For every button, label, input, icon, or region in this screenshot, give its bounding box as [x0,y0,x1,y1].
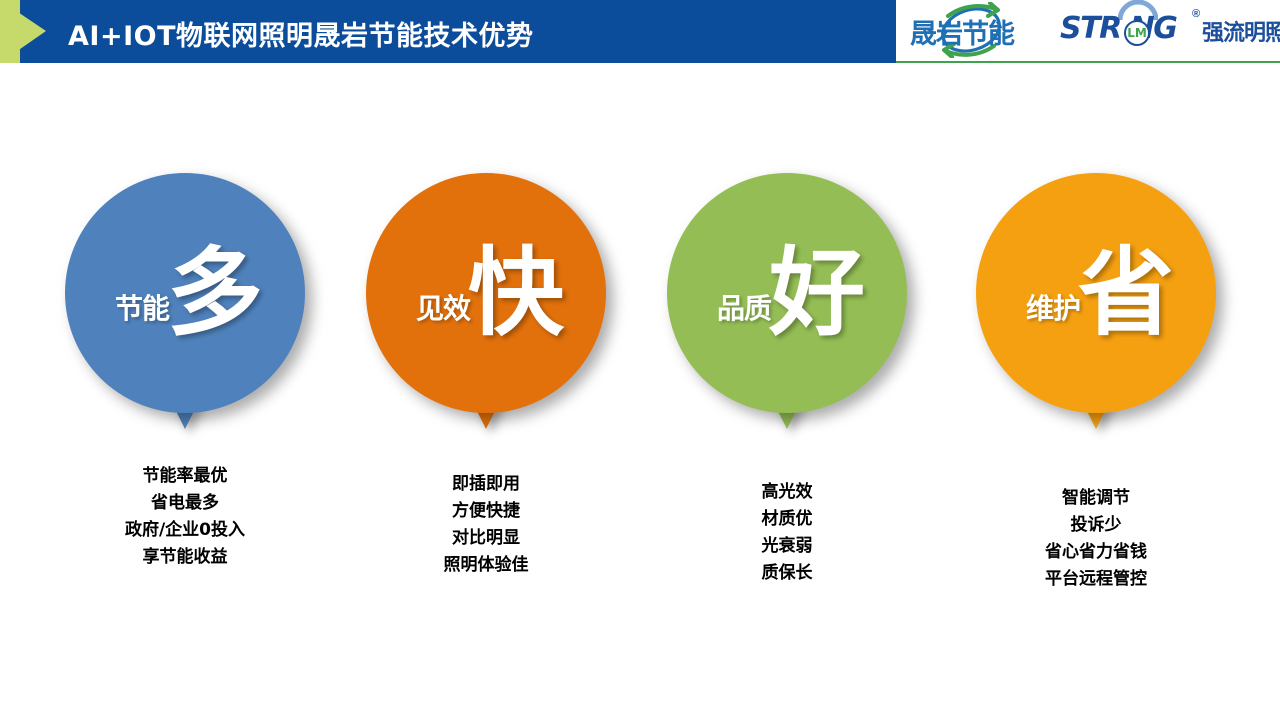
bubble-small-label-4: 维护 [1026,287,1080,327]
bubble-label-4: 维护 省 [976,173,1216,413]
feature-column-4: 维护 省 智能调节 投诉少 省心省力省钱 平台远程管控 [946,63,1246,720]
bubble-wrap-2: 见效 快 [366,173,606,431]
list-item: 省心省力省钱 [946,539,1246,566]
logo-panel: 晟岩节能 STR NG LM ® 强流明照明 [896,0,1280,63]
bullet-list-3: 高光效 材质优 光衰弱 质保长 [637,479,937,587]
bubble-big-label-2: 快 [468,250,564,336]
list-item: 省电最多 [35,490,335,517]
logo-inner: 晟岩节能 STR NG LM ® 强流明照明 [896,0,1280,61]
list-item: 方便快捷 [336,498,636,525]
list-item: 材质优 [637,506,937,533]
logo-brand-cn: 晟岩节能 [910,12,1014,51]
list-item: 光衰弱 [637,533,937,560]
list-item: 质保长 [637,560,937,587]
bubble-label-3: 品质 好 [667,173,907,413]
list-item: 照明体验佳 [336,552,636,579]
list-item: 对比明显 [336,525,636,552]
registered-mark-icon: ® [1192,8,1200,20]
bubble-big-label-1: 多 [167,250,263,336]
feature-column-1: 节能 多 节能率最优 省电最多 政府/企业0投入 享节能收益 [35,63,335,720]
bubble-label-2: 见效 快 [366,173,606,413]
bubble-small-label-2: 见效 [416,287,470,327]
feature-column-2: 见效 快 即插即用 方便快捷 对比明显 照明体验佳 [336,63,636,720]
feature-column-3: 品质 好 高光效 材质优 光衰弱 质保长 [637,63,937,720]
bubble-small-label-1: 节能 [115,287,169,327]
bubble-wrap-3: 品质 好 [667,173,907,431]
bubble-wrap-1: 节能 多 [65,173,305,431]
bubble-label-1: 节能 多 [65,173,305,413]
bubble-big-label-3: 好 [769,250,865,336]
list-item: 平台远程管控 [946,566,1246,593]
list-item: 高光效 [637,479,937,506]
logo-lm-badge: LM [1124,20,1150,46]
bullet-list-4: 智能调节 投诉少 省心省力省钱 平台远程管控 [946,485,1246,593]
bubble-big-label-4: 省 [1078,250,1174,336]
list-item: 投诉少 [946,512,1246,539]
bullet-list-1: 节能率最优 省电最多 政府/企业0投入 享节能收益 [35,463,335,571]
header-chevron-icon [0,0,46,63]
logo-brand-en: STR NG [1060,11,1176,46]
list-item: 享节能收益 [35,544,335,571]
page-title: AI+IOT物联网照明晟岩节能技术优势 [68,14,533,53]
logo-sub-cn: 强流明照明 [1202,15,1280,47]
bullet-list-2: 即插即用 方便快捷 对比明显 照明体验佳 [336,471,636,579]
bubble-small-label-3: 品质 [717,287,771,327]
list-item: 智能调节 [946,485,1246,512]
list-item: 即插即用 [336,471,636,498]
list-item: 政府/企业0投入 [35,517,335,544]
list-item: 节能率最优 [35,463,335,490]
feature-columns: 节能 多 节能率最优 省电最多 政府/企业0投入 享节能收益 见效 快 即插即用… [0,63,1280,720]
bubble-wrap-4: 维护 省 [976,173,1216,431]
